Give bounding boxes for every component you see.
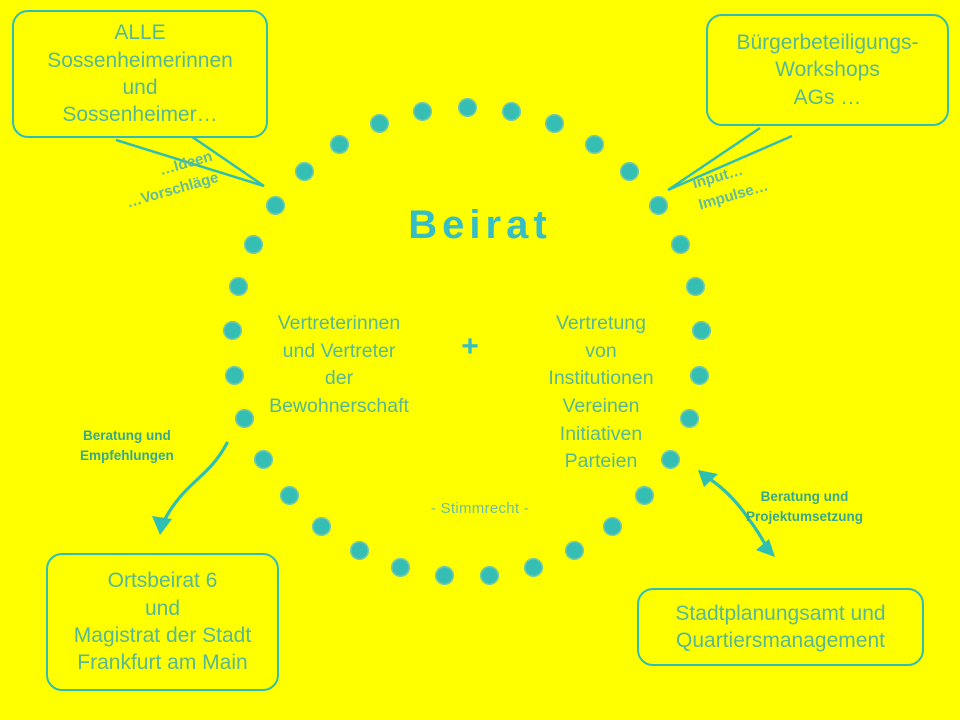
arrowhead-left	[152, 516, 172, 535]
column-line: Vertretung	[512, 310, 690, 338]
column-institutions: Vertretung von Institutionen Vereinen In…	[512, 310, 690, 476]
bubble-line: Sossenheimerinnen	[47, 47, 233, 74]
bubble-line: ALLE	[114, 19, 165, 46]
bubble-ortsbeirat-magistrat[interactable]: Ortsbeirat 6 und Magistrat der Stadt Fra…	[46, 553, 279, 691]
column-residents: Vertreterinnen und Vertreter der Bewohne…	[250, 310, 428, 421]
bubble-line: AGs …	[794, 84, 862, 111]
column-line: Institutionen	[512, 365, 690, 393]
column-line: Parteien	[512, 448, 690, 476]
plus-icon: +	[446, 310, 494, 362]
bubble-line: Ortsbeirat 6	[108, 567, 218, 594]
caption-line: Beratung und	[746, 487, 863, 507]
column-line: Vereinen	[512, 393, 690, 421]
bubble-line: Frankfurt am Main	[77, 649, 247, 676]
column-line: von	[512, 338, 690, 366]
bubble-all-residents[interactable]: ALLE Sossenheimerinnen und Sossenheimer…	[12, 10, 268, 138]
column-line: Vertreterinnen	[250, 310, 428, 338]
bubble-line: Workshops	[775, 56, 880, 83]
beirat-composition: Vertreterinnen und Vertreter der Bewohne…	[250, 310, 690, 476]
bubble-participation-workshops[interactable]: Bürgerbeteiligungs- Workshops AGs …	[706, 14, 949, 126]
column-line: und Vertreter	[250, 338, 428, 366]
bubble-line: Bürgerbeteiligungs-	[736, 29, 918, 56]
arrowhead-right-lower	[756, 539, 775, 557]
caption-line: Beratung und	[80, 426, 174, 446]
bubble-line: Magistrat der Stadt	[74, 622, 251, 649]
bubble-line: und	[122, 74, 157, 101]
caption-beratung-empfehlungen: Beratung und Empfehlungen	[80, 426, 174, 465]
caption-line: Empfehlungen	[80, 446, 174, 466]
caption-line: Projektumsetzung	[746, 507, 863, 527]
column-line: Initiativen	[512, 421, 690, 449]
bubble-line: und	[145, 595, 180, 622]
caption-beratung-projektumsetzung: Beratung und Projektumsetzung	[746, 487, 863, 526]
bubble-line: Stadtplanungsamt und	[675, 600, 885, 627]
diagram-canvas: ALLE Sossenheimerinnen und Sossenheimer……	[0, 0, 960, 720]
column-line: Bewohnerschaft	[250, 393, 428, 421]
bubble-line: Quartiersmanagement	[676, 627, 885, 654]
bubble-stadtplanungsamt-quartiersmanagement[interactable]: Stadtplanungsamt und Quartiersmanagement	[637, 588, 924, 666]
bubble-line: Sossenheimer…	[62, 101, 217, 128]
column-line: der	[250, 365, 428, 393]
